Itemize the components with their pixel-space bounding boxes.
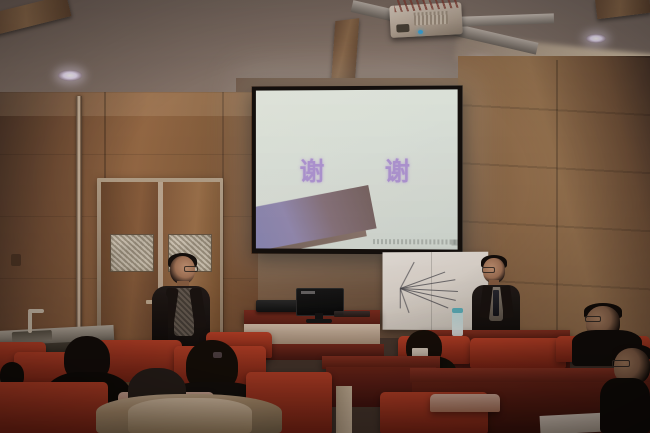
left-wall-upper-strip [0, 92, 258, 116]
projector-lens-icon [396, 24, 409, 33]
glasses-icon [585, 316, 601, 322]
monitor-foot [306, 319, 332, 323]
wall-panel-seam [556, 60, 558, 350]
projector-vent [414, 11, 449, 26]
desk-leg [336, 386, 352, 433]
ceiling-downlight-3 [586, 34, 606, 43]
ceiling-downlight-1 [58, 70, 82, 81]
door-window-left [110, 234, 154, 272]
glasses-icon [482, 267, 495, 273]
projector-status-light [418, 30, 423, 34]
slide-footer-text [373, 239, 458, 244]
glasses-icon [184, 266, 198, 272]
seat-headrest[interactable] [430, 394, 500, 412]
av-deck-device[interactable] [256, 300, 300, 312]
faucet-spout [28, 309, 44, 313]
projection-screen-surface: 谢 谢 [256, 89, 458, 249]
monitor-logo [301, 291, 315, 294]
seat[interactable] [0, 382, 108, 433]
presenter-right-tie [493, 290, 499, 316]
lecture-hall-photo: 谢 谢 [0, 0, 650, 433]
seat[interactable] [470, 338, 566, 368]
faucet[interactable] [28, 311, 32, 333]
slide-thank-you-text: 谢 谢 [256, 152, 458, 188]
slide-footer-mark [452, 239, 458, 245]
audience-right-lower-body [600, 378, 650, 433]
slide-char-right: 谢 [385, 152, 413, 188]
water-bottle-cap [452, 308, 463, 313]
light-switch[interactable] [11, 254, 21, 266]
water-bottle[interactable] [452, 312, 463, 336]
keyboard[interactable] [334, 311, 370, 317]
hair-clip [213, 352, 222, 358]
audience-beige-coat-body [128, 398, 252, 433]
projection-screen: 谢 谢 [252, 85, 463, 254]
glasses-icon [612, 360, 630, 367]
slide-char-left: 谢 [300, 152, 328, 188]
